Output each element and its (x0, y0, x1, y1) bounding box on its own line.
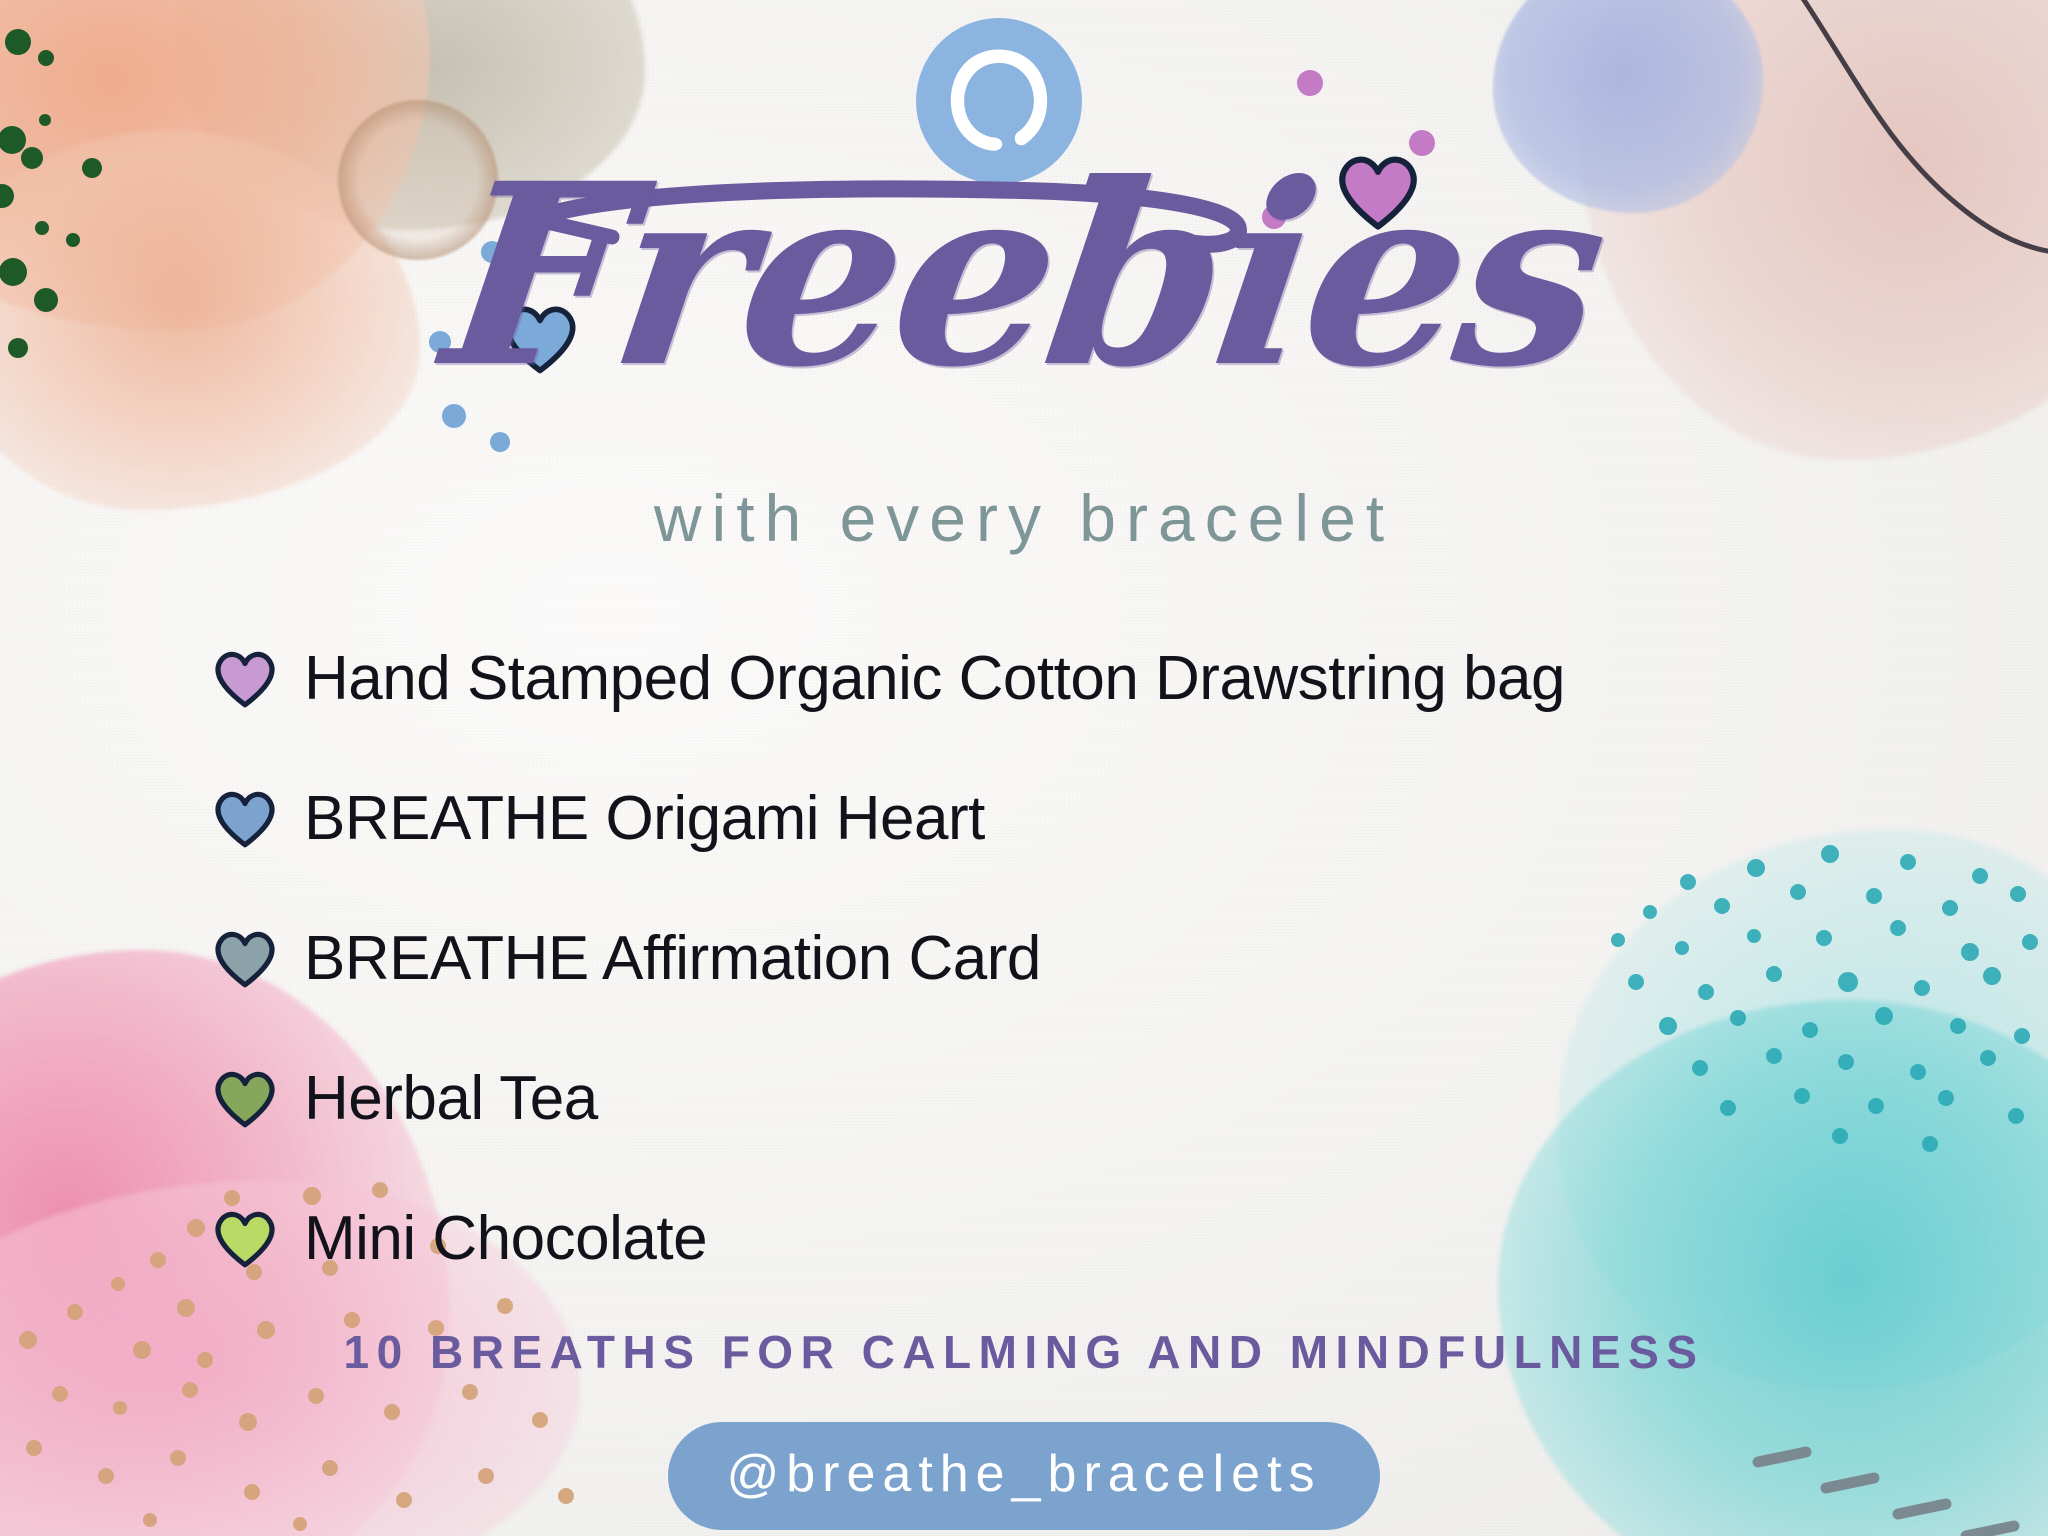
list-item-label: Mini Chocolate (304, 1203, 707, 1274)
poster-canvas: Freebies with every bracelet Hand Stampe… (0, 0, 2048, 1536)
list-item-label: BREATHE Affirmation Card (304, 923, 1041, 994)
list-item-label: Herbal Tea (304, 1063, 598, 1134)
page-subtitle: with every bracelet (0, 480, 2048, 556)
list-item: BREATHE Origami Heart (212, 748, 1972, 888)
list-item-label: Hand Stamped Organic Cotton Drawstring b… (304, 643, 1565, 714)
heart-icon (212, 1207, 278, 1269)
heart-icon (212, 927, 278, 989)
tagline: 10 BREATHS FOR CALMING AND MINDFULNESS (0, 1325, 2048, 1379)
list-item: Hand Stamped Organic Cotton Drawstring b… (212, 608, 1972, 748)
list-item: Mini Chocolate (212, 1168, 1972, 1308)
instagram-handle-badge[interactable]: @breathe_bracelets (668, 1422, 1379, 1530)
list-item: BREATHE Affirmation Card (212, 888, 1972, 1028)
heart-icon (212, 787, 278, 849)
freebies-list: Hand Stamped Organic Cotton Drawstring b… (212, 608, 1972, 1308)
list-item-label: BREATHE Origami Heart (304, 783, 985, 854)
heart-icon (212, 647, 278, 709)
handle-container: @breathe_bracelets (0, 1422, 2048, 1530)
headline-block: Freebies (0, 150, 2048, 400)
page-title: Freebies (434, 150, 1614, 400)
list-item: Herbal Tea (212, 1028, 1972, 1168)
heart-icon (212, 1067, 278, 1129)
